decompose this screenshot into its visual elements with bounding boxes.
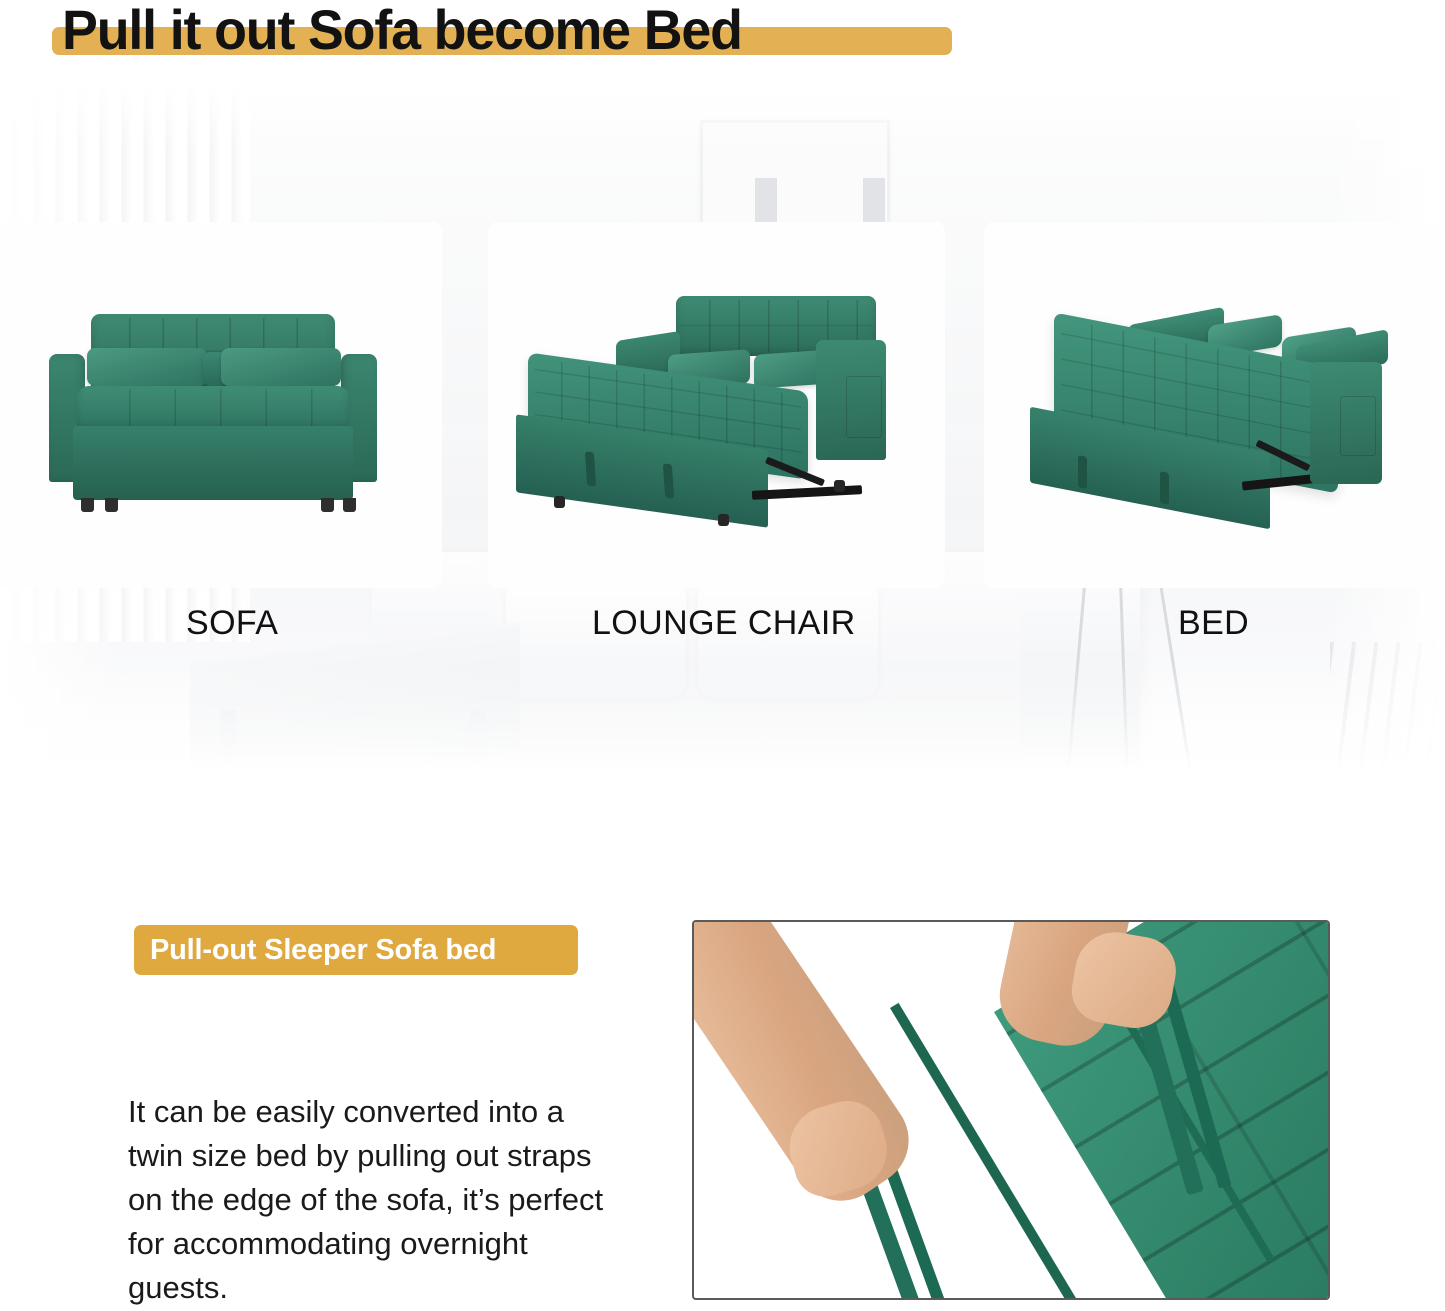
lounge-chair-image [488, 222, 945, 588]
product-card-lounge-chair[interactable] [488, 222, 945, 588]
lounge-caster [834, 480, 845, 492]
sofa-leg [343, 498, 356, 512]
sofa-pillow-left [87, 348, 207, 386]
feature-badge: Pull-out Sleeper Sofa bed [134, 925, 578, 975]
caption-lounge-chair: LOUNGE CHAIR [592, 604, 856, 643]
feature-badge-label: Pull-out Sleeper Sofa bed [150, 934, 496, 967]
sofa-leg [105, 498, 118, 512]
sofa-image [0, 222, 442, 588]
lounge-caster [718, 514, 729, 526]
sofa-base [73, 426, 353, 500]
bed-illustration [1010, 280, 1414, 548]
fade-overlay-top [0, 82, 1445, 152]
lounge-illustration [516, 292, 916, 542]
caption-sofa: SOFA [186, 604, 278, 643]
lounge-metal-frame [752, 485, 862, 500]
bed-pull-strap [1078, 455, 1087, 489]
product-marketing-page: Pull it out Sofa become Bed [0, 0, 1445, 1311]
lounge-arm-right [816, 340, 886, 460]
hero-section: SOFA LOUNGE CHAIR BED [0, 82, 1445, 772]
bed-image [984, 222, 1441, 588]
sofa-seat-cushion [77, 386, 349, 430]
product-card-bed[interactable] [984, 222, 1441, 588]
feature-description: It can be easily converted into a twin s… [128, 1090, 618, 1310]
sofa-illustration [43, 302, 383, 532]
strap-demo-photo [692, 920, 1330, 1300]
bed-arm-right [1310, 362, 1382, 484]
sofa-leg [81, 498, 94, 512]
sofa-leg [321, 498, 334, 512]
headline-banner: Pull it out Sofa become Bed [0, 0, 1445, 80]
product-card-sofa[interactable] [0, 222, 442, 588]
fade-overlay-bottom [0, 662, 1445, 772]
page-title: Pull it out Sofa become Bed [62, 0, 945, 62]
product-caption-row: SOFA LOUNGE CHAIR BED [0, 604, 1445, 654]
bed-pull-strap [1160, 471, 1169, 505]
lounge-caster [554, 496, 565, 508]
sofa-pillow-right [221, 348, 341, 386]
caption-bed: BED [1178, 604, 1249, 643]
product-card-row [0, 222, 1445, 588]
